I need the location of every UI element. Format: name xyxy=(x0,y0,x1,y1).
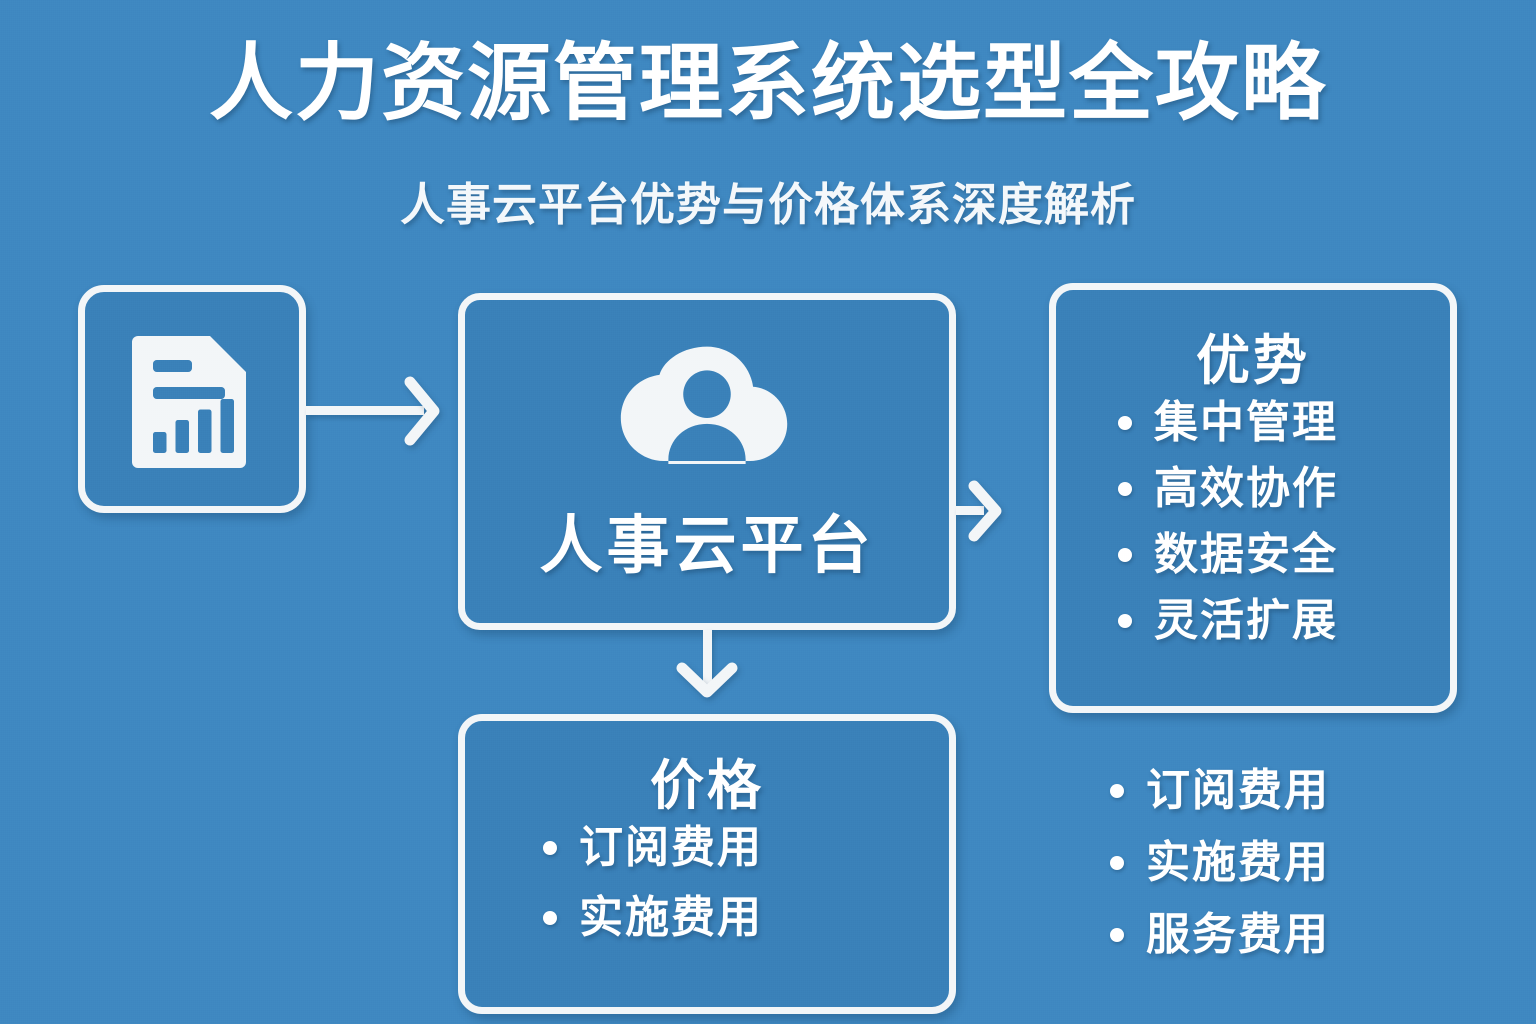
list-item-label: 实施费用 xyxy=(579,896,763,940)
list-item-label: 订阅费用 xyxy=(1146,769,1330,813)
list-item-label: 订阅费用 xyxy=(579,826,763,870)
bullet-dot-icon xyxy=(1118,482,1132,496)
connector-platform-to-advantage-arrowhead xyxy=(968,478,1006,544)
list-item: 实施费用 xyxy=(1110,841,1330,885)
advantage-node-heading: 优势 xyxy=(1056,316,1450,395)
connector-icon-to-platform-arrowhead xyxy=(404,374,444,448)
bullet-dot-icon xyxy=(1110,928,1124,942)
page-subtitle: 人事云平台优势与价格体系深度解析 xyxy=(0,168,1536,233)
price-node-heading: 价格 xyxy=(465,741,949,820)
platform-node: 人事云平台 xyxy=(458,293,956,630)
fees-list: 订阅费用 实施费用 服务费用 xyxy=(1110,769,1330,985)
source-document-node xyxy=(78,285,306,513)
list-item-label: 灵活扩展 xyxy=(1154,599,1338,643)
list-item-label: 数据安全 xyxy=(1154,533,1338,577)
bullet-dot-icon xyxy=(1110,784,1124,798)
list-item-label: 集中管理 xyxy=(1154,401,1338,445)
document-chart-icon xyxy=(117,324,267,474)
bullet-dot-icon xyxy=(1118,614,1132,628)
list-item: 集中管理 xyxy=(1118,401,1450,445)
bullet-dot-icon xyxy=(1118,548,1132,562)
connector-platform-to-price-arrowhead xyxy=(675,662,739,706)
list-item: 高效协作 xyxy=(1118,467,1450,511)
list-item-label: 高效协作 xyxy=(1154,467,1338,511)
list-item: 实施费用 xyxy=(543,896,949,940)
advantage-node: 优势 集中管理 高效协作 数据安全 灵活扩展 xyxy=(1049,283,1457,713)
bullet-dot-icon xyxy=(543,841,557,855)
list-item: 订阅费用 xyxy=(543,826,949,870)
list-item-label: 服务费用 xyxy=(1146,913,1330,957)
advantage-list: 集中管理 高效协作 数据安全 灵活扩展 xyxy=(1118,401,1450,643)
page-title: 人力资源管理系统选型全攻略 xyxy=(0,38,1536,129)
cloud-user-icon xyxy=(603,337,811,487)
price-node: 价格 订阅费用 实施费用 xyxy=(458,714,956,1014)
list-item: 服务费用 xyxy=(1110,913,1330,957)
list-item: 订阅费用 xyxy=(1110,769,1330,813)
bullet-dot-icon xyxy=(543,911,557,925)
platform-node-label: 人事云平台 xyxy=(540,495,875,586)
list-item: 数据安全 xyxy=(1118,533,1450,577)
infographic-canvas: 人力资源管理系统选型全攻略 人事云平台优势与价格体系深度解析 xyxy=(0,0,1536,1024)
bullet-dot-icon xyxy=(1118,416,1132,430)
price-list: 订阅费用 实施费用 xyxy=(543,826,949,940)
bullet-dot-icon xyxy=(1110,856,1124,870)
list-item: 灵活扩展 xyxy=(1118,599,1450,643)
list-item-label: 实施费用 xyxy=(1146,841,1330,885)
